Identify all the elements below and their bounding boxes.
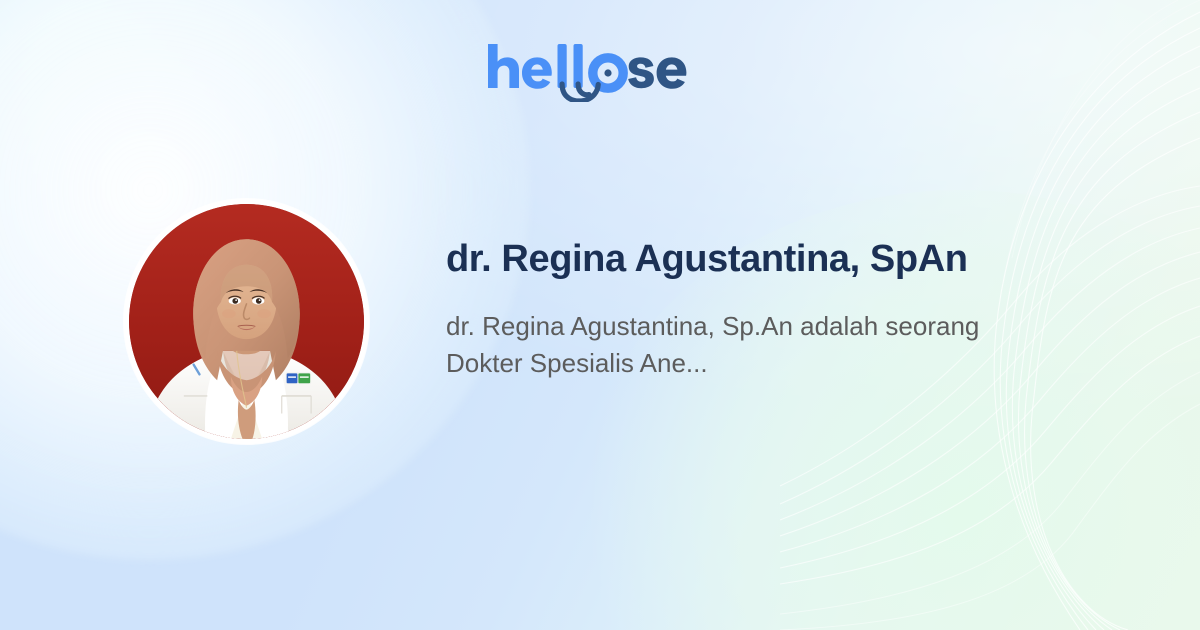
share-card: dr. Regina Agustantina, SpAn dr. Regina … [0, 0, 1200, 630]
page-title: dr. Regina Agustantina, SpAn [446, 236, 1046, 282]
avatar [124, 199, 369, 444]
avatar-photo [129, 204, 364, 439]
doctor-description: dr. Regina Agustantina, Sp.An adalah seo… [446, 308, 1006, 382]
doctor-info: dr. Regina Agustantina, SpAn dr. Regina … [446, 236, 1046, 382]
hellosehat-logo-wordmark[interactable] [0, 40, 1200, 102]
